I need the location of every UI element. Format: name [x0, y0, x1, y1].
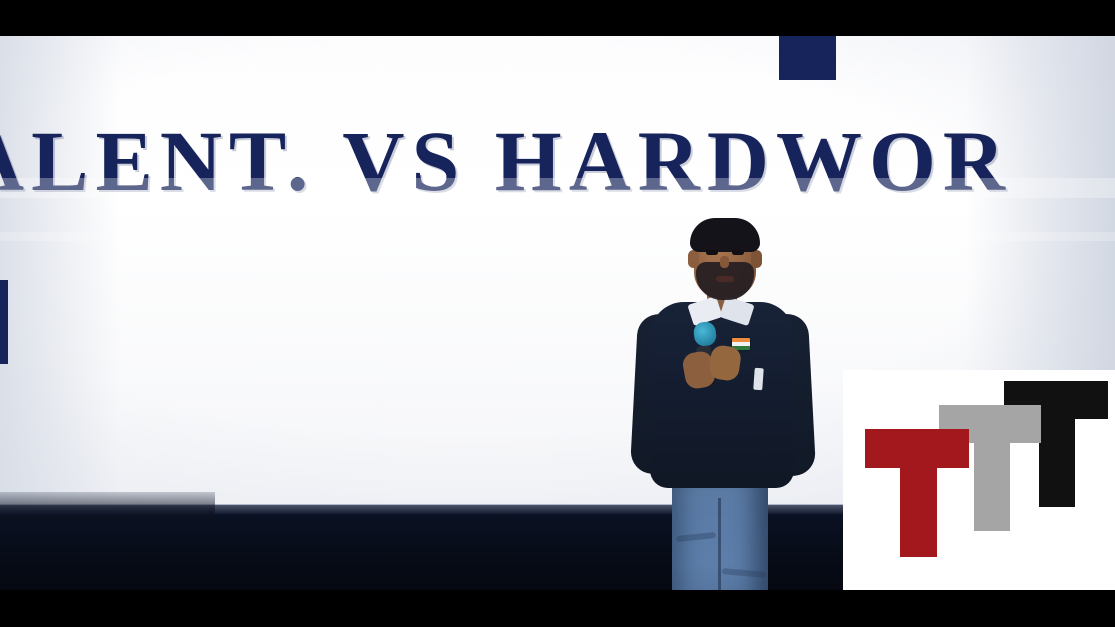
- speaker-ear-right: [751, 250, 762, 268]
- stage-floor-left-shadow: [0, 492, 215, 522]
- speaker-mouth: [716, 276, 734, 282]
- speaker: [614, 218, 844, 627]
- sweater-tag: [753, 368, 764, 391]
- speaker-eyebrow-left: [705, 245, 719, 249]
- screen-left-falloff: [0, 36, 120, 516]
- speaker-eye-left: [706, 250, 718, 255]
- slide-accent-left-stub: [0, 280, 8, 364]
- video-frame: ALENT. VS HARDWOR: [0, 0, 1115, 627]
- logo-t-middle-stem: [974, 405, 1010, 531]
- logo-text: TTT: [843, 370, 844, 371]
- speaker-eye-right: [732, 250, 744, 255]
- letterbox-top: [0, 0, 1115, 36]
- logo-t-front-stem: [900, 429, 937, 557]
- logo-t-back-stem: [1039, 381, 1075, 507]
- projector-scanline-band-secondary: [0, 232, 1115, 241]
- slide-headline: ALENT. VS HARDWOR: [0, 118, 1115, 206]
- ttt-logo-marks: TTT: [843, 370, 1115, 590]
- speaker-sweater: [650, 302, 794, 488]
- slide-accent-top-block: [779, 36, 836, 80]
- speaker-nose: [720, 256, 729, 268]
- ttt-logo: TTT: [843, 370, 1115, 590]
- speaker-hair: [690, 218, 760, 252]
- speaker-eyebrow-right: [731, 245, 745, 249]
- letterbox-bottom: [0, 590, 1115, 627]
